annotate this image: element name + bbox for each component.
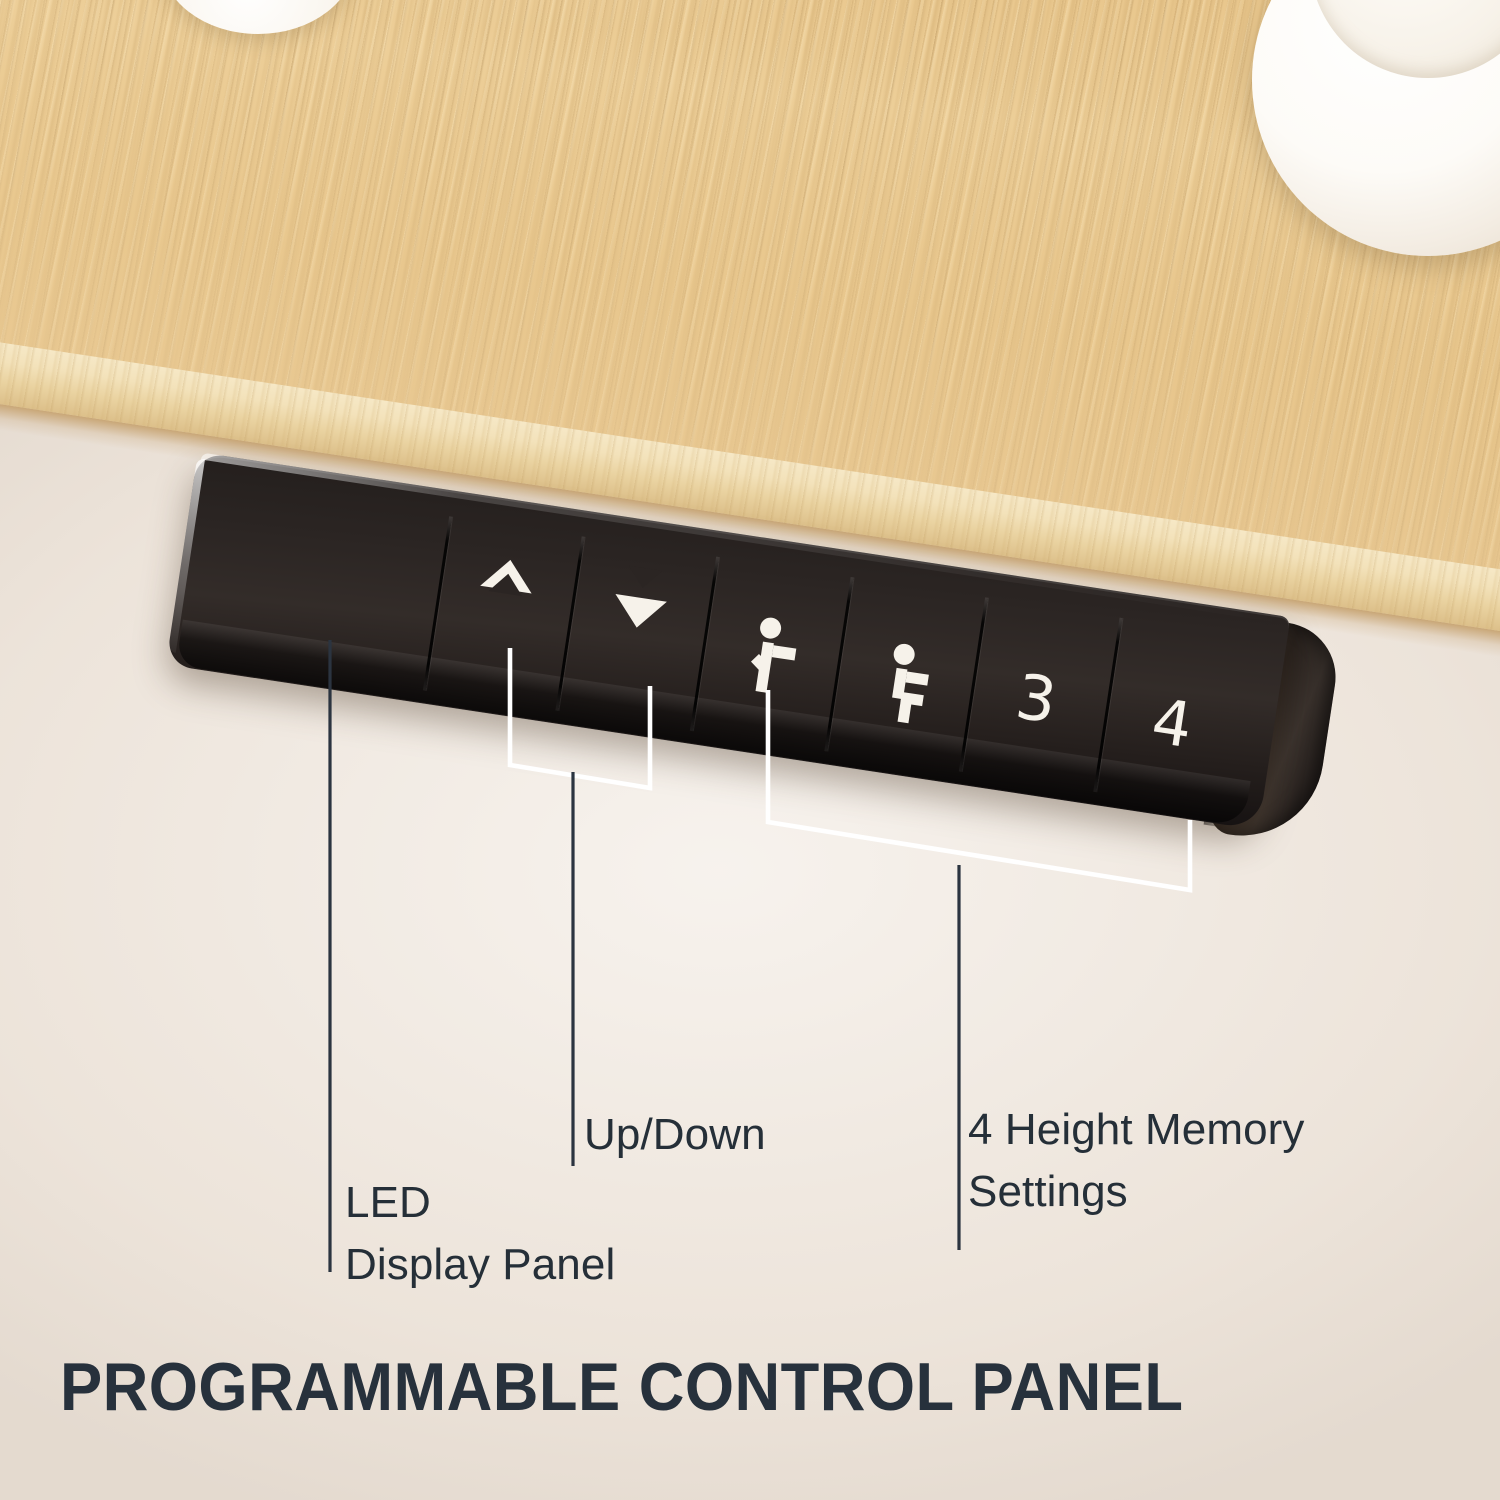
chevron-down-icon — [611, 594, 667, 631]
memory-3-label: 3 — [1012, 666, 1060, 733]
callout-label-led-line2: Display Panel — [345, 1240, 615, 1290]
callout-label-memory-line2: Settings — [968, 1167, 1128, 1217]
headline: PROGRAMMABLE CONTROL PANEL — [60, 1348, 1183, 1426]
callout-label-memory-line1: 4 Height Memory — [968, 1105, 1305, 1155]
standing-person-icon — [740, 615, 807, 700]
callout-label-led-line1: LED — [345, 1178, 431, 1228]
product-feature-image: 3 4 Up/Down LED Display Panel 4 Height M… — [0, 0, 1500, 1500]
chevron-up-icon — [480, 556, 536, 593]
led-display-panel[interactable] — [176, 453, 453, 703]
sitting-person-icon — [874, 641, 941, 726]
callout-label-updown: Up/Down — [584, 1110, 766, 1160]
memory-4-label: 4 — [1148, 690, 1196, 757]
